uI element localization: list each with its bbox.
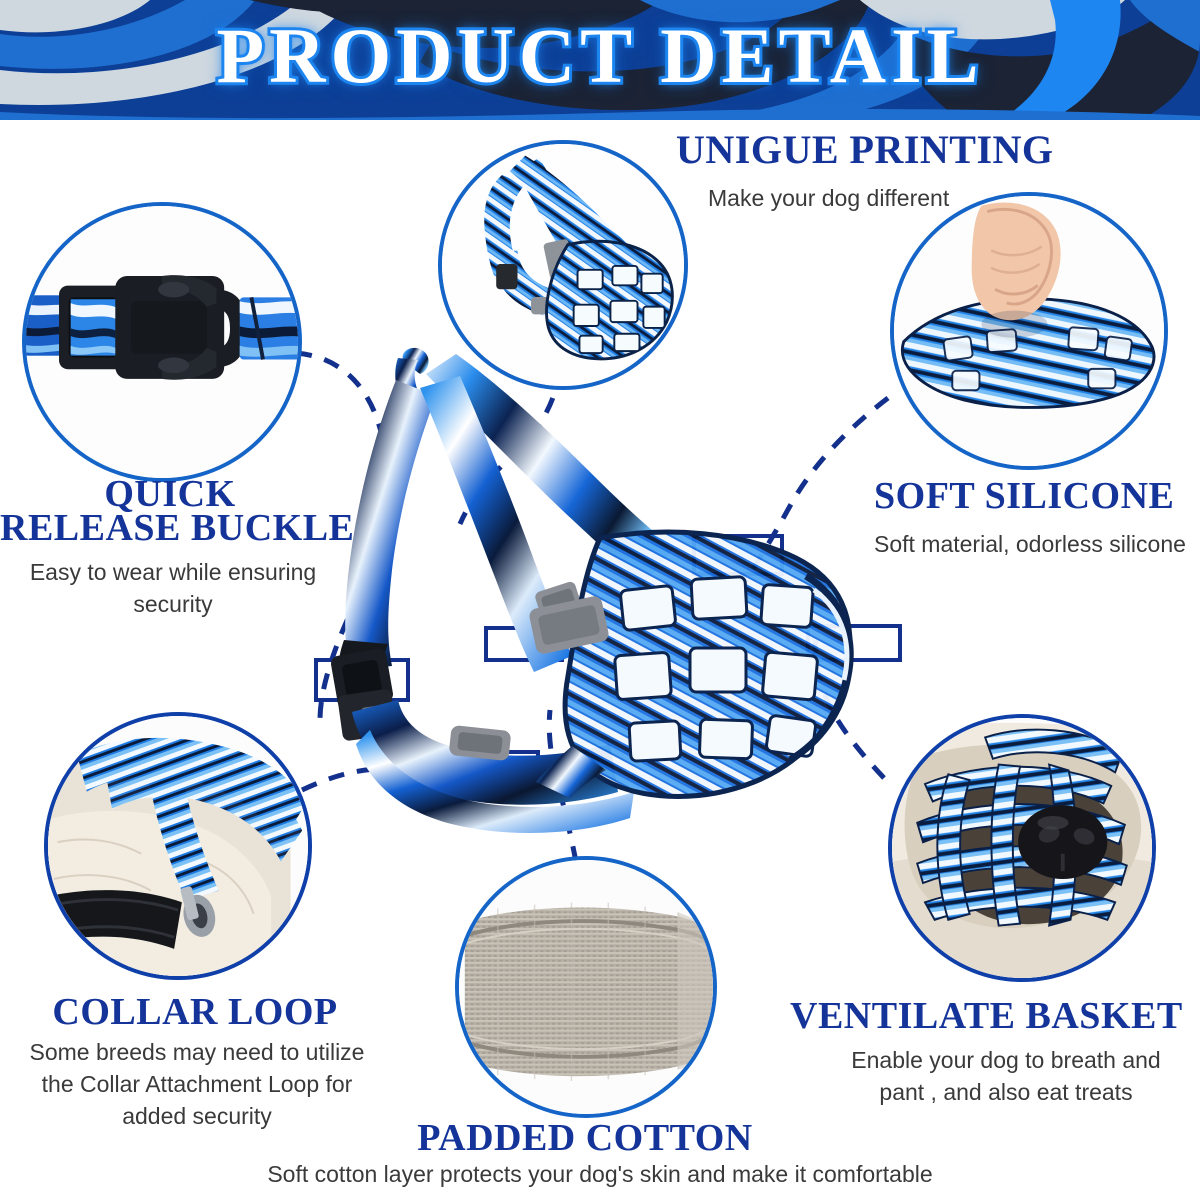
feature-desc-collar-loop: Some breeds may need to utilize the Coll… <box>22 1036 372 1133</box>
feature-desc-unique-printing: Make your dog different <box>708 182 949 214</box>
feature-desc-quick-release-buckle: Easy to wear while ensuring security <box>14 556 332 620</box>
feature-title-unique-printing: UNIGUE PRINTING <box>676 128 1054 171</box>
photo-collar-loop <box>48 716 308 976</box>
photo-full-muzzle <box>442 144 684 386</box>
page-title: PRODUCT DETAIL <box>0 8 1200 104</box>
photo-finger-pressing-silicone <box>894 196 1164 466</box>
callout-ventilate-basket[interactable] <box>888 714 1156 982</box>
feature-desc-ventilate-basket: Enable your dog to breath and pant , and… <box>836 1044 1176 1108</box>
feature-title-quick-release-line2: RELEASE BUCKLE <box>0 508 340 549</box>
callout-padded-cotton[interactable] <box>455 856 717 1118</box>
feature-title-padded-cotton: PADDED COTTON <box>410 1118 760 1159</box>
callout-unique-printing[interactable] <box>438 140 688 390</box>
feature-desc-soft-silicone: Soft material, odorless silicone <box>874 528 1186 560</box>
feature-title-ventilate-basket: VENTILATE BASKET <box>790 996 1183 1037</box>
product-detail-infographic: PRODUCT DETAIL <box>0 0 1200 1196</box>
photo-quick-release-buckle <box>26 206 298 478</box>
header-banner: PRODUCT DETAIL <box>0 0 1200 120</box>
feature-title-soft-silicone: SOFT SILICONE <box>874 476 1174 517</box>
feature-title-collar-loop: COLLAR LOOP <box>0 992 390 1033</box>
callout-collar-loop[interactable] <box>44 712 312 980</box>
feature-desc-padded-cotton-text: Soft cotton layer protects your dog's sk… <box>220 1158 980 1190</box>
photo-padded-cotton <box>459 860 713 1114</box>
callout-quick-release-buckle[interactable] <box>22 202 302 482</box>
photo-ventilate-basket <box>892 718 1152 978</box>
muzzle-illustration <box>300 340 860 860</box>
product-photo-main <box>300 340 860 860</box>
callout-soft-silicone[interactable] <box>890 192 1168 470</box>
